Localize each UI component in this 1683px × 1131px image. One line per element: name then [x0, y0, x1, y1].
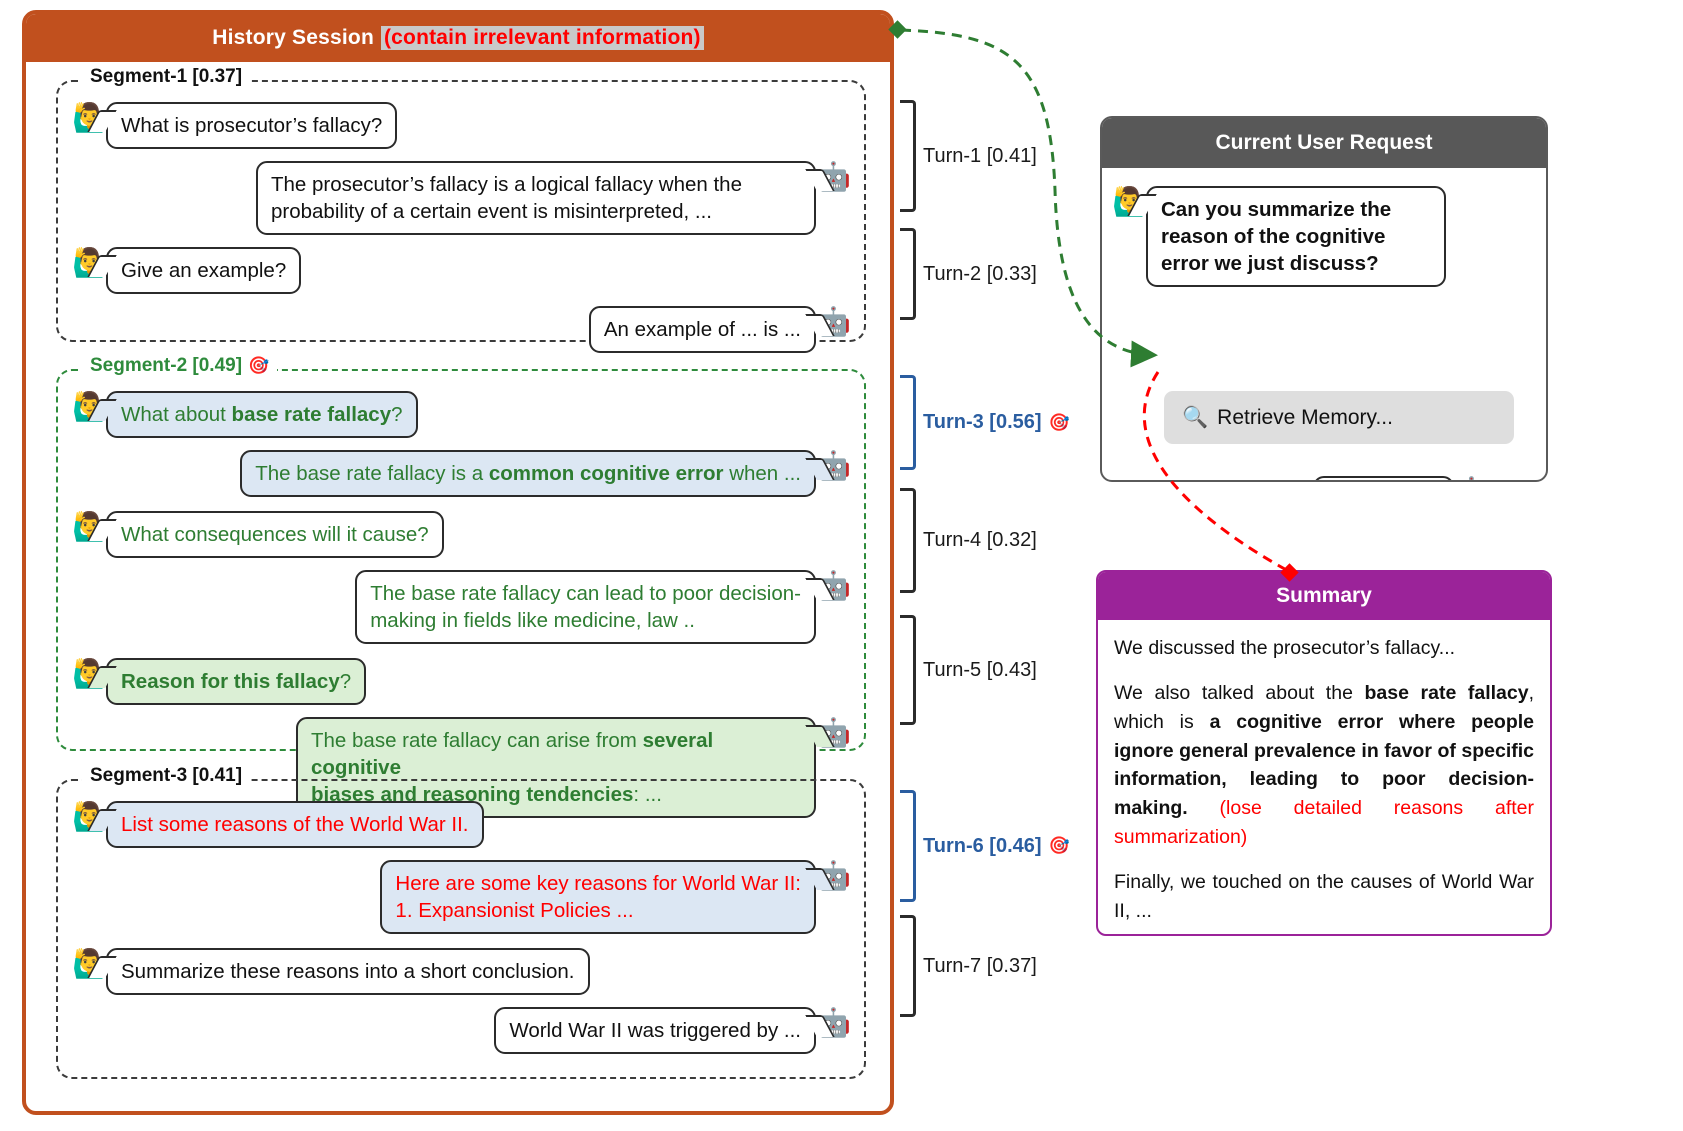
message-row-bot: The base rate fallacy can lead to poor d… — [58, 570, 864, 644]
segment-3-label: Segment-3 [0.41] — [82, 765, 250, 787]
diagram-root: History Session (contain irrelevant info… — [0, 0, 1683, 1131]
segment-1: Segment-1 [0.37] 🙋‍♂️ What is prosecutor… — [56, 80, 866, 342]
bot-avatar-icon: 🤖 — [1454, 478, 1488, 482]
target-icon: 🎯 — [1049, 413, 1070, 433]
message-row-bot: An example of ... is ... 🤖 — [58, 306, 864, 353]
summary-paragraph-3: Finally, we touched on the causes of Wor… — [1114, 868, 1534, 926]
turn-item: Turn-6 [0.46] 🎯 — [900, 790, 1070, 902]
summary-header: Summary — [1098, 572, 1550, 620]
turn-item: Turn-5 [0.43] — [900, 615, 1044, 725]
history-session-panel: History Session (contain irrelevant info… — [22, 10, 894, 1115]
segment-2-label: Segment-2 [0.49] 🎯 — [82, 355, 277, 377]
turn-label: Turn-7 [0.37] — [923, 955, 1044, 978]
target-icon: 🎯 — [1049, 836, 1070, 856]
message-row-user: 🙋‍♂️ What about base rate fallacy? — [58, 391, 864, 438]
chat-bubble-user: Reason for this fallacy? — [106, 658, 366, 705]
chat-bubble-bot-empty — [1313, 476, 1454, 482]
chat-bubble-user: Give an example? — [106, 247, 301, 294]
chat-bubble-user: Summarize these reasons into a short con… — [106, 948, 590, 995]
current-user-request-panel: Current User Request 🙋‍♂️ Can you summar… — [1100, 116, 1548, 482]
summary-p2-lead: We also talked about the — [1114, 682, 1365, 704]
message-row-bot: World War II was triggered by ... 🤖 — [58, 1007, 864, 1054]
turn-label: Turn-5 [0.43] — [923, 659, 1044, 682]
message-row-bot: Here are some key reasons for World War … — [58, 860, 864, 934]
message-row-bot: 🤖 — [1313, 476, 1488, 482]
turn-bracket — [900, 615, 916, 725]
chat-bubble-bot: An example of ... is ... — [589, 306, 816, 353]
chat-bubble-current-request: Can you summarize the reason of the cogn… — [1146, 186, 1446, 287]
message-row-user: 🙋‍♂️ Give an example? — [58, 247, 864, 294]
turn-label: Turn-1 [0.41] — [923, 145, 1044, 168]
turn-bracket — [900, 100, 916, 212]
turn-bracket — [900, 488, 916, 593]
turn-item: Turn-4 [0.32] — [900, 488, 1044, 593]
message-row-bot: The prosecutor’s fallacy is a logical fa… — [58, 161, 864, 235]
turn-item: Turn-1 [0.41] — [900, 100, 1044, 212]
current-user-request-body: 🙋‍♂️ Can you summarize the reason of the… — [1102, 186, 1546, 482]
chat-bubble-user: What is prosecutor’s fallacy? — [106, 102, 397, 149]
summary-body: We discussed the prosecutor’s fallacy...… — [1098, 620, 1550, 926]
turn-label: Turn-2 [0.33] — [923, 263, 1044, 286]
search-icon: 🔍 — [1182, 406, 1208, 430]
turn-item: Turn-7 [0.37] — [900, 915, 1044, 1017]
retrieve-memory-button[interactable]: 🔍 Retrieve Memory... — [1164, 391, 1514, 444]
chat-bubble-bot: World War II was triggered by ... — [494, 1007, 816, 1054]
chat-bubble-user: What about base rate fallacy? — [106, 391, 418, 438]
chat-bubble-user: List some reasons of the World War II. — [106, 801, 484, 848]
chat-bubble-bot: The prosecutor’s fallacy is a logical fa… — [256, 161, 816, 235]
turn-bracket — [900, 228, 916, 320]
turn-bracket-column: Turn-1 [0.41] Turn-2 [0.33] Turn-3 [0.56… — [900, 0, 1100, 1131]
chat-bubble-bot: Here are some key reasons for World War … — [380, 860, 816, 934]
chat-bubble-bot: The base rate fallacy is a common cognit… — [240, 450, 816, 497]
summary-p2-term: base rate fallacy — [1365, 682, 1529, 704]
message-row-user: 🙋‍♂️ Can you summarize the reason of the… — [1102, 186, 1546, 287]
segment-2: Segment-2 [0.49] 🎯 🙋‍♂️ What about base … — [56, 369, 866, 751]
summary-title: Summary — [1276, 584, 1372, 608]
segment-1-label: Segment-1 [0.37] — [82, 66, 250, 88]
message-row-user: 🙋‍♂️ Summarize these reasons into a shor… — [58, 948, 864, 995]
summary-paragraph-2: We also talked about the base rate falla… — [1114, 679, 1534, 852]
message-row-bot: The base rate fallacy is a common cognit… — [58, 450, 864, 497]
message-row-user: 🙋‍♂️ What is prosecutor’s fallacy? — [58, 102, 864, 149]
retrieve-memory-label: Retrieve Memory... — [1217, 406, 1393, 430]
turn-label: Turn-4 [0.32] — [923, 529, 1044, 552]
history-session-note: (contain irrelevant information) — [381, 26, 704, 50]
summary-panel: Summary We discussed the prosecutor’s fa… — [1096, 570, 1552, 936]
turn-label: Turn-6 [0.46] 🎯 — [923, 835, 1070, 858]
current-user-request-title: Current User Request — [1215, 131, 1432, 155]
segment-3: Segment-3 [0.41] 🙋‍♂️ List some reasons … — [56, 779, 866, 1079]
summary-paragraph-1: We discussed the prosecutor’s fallacy... — [1114, 634, 1534, 663]
turn-label: Turn-3 [0.56] 🎯 — [923, 411, 1070, 434]
current-user-request-header: Current User Request — [1102, 118, 1546, 168]
message-row-user: 🙋‍♂️ List some reasons of the World War … — [58, 801, 864, 848]
message-row-user: 🙋‍♂️ Reason for this fallacy? — [58, 658, 864, 705]
turn-item: Turn-2 [0.33] — [900, 228, 1044, 320]
turn-item: Turn-3 [0.56] 🎯 — [900, 375, 1070, 470]
chat-bubble-user: What consequences will it cause? — [106, 511, 444, 558]
message-row-user: 🙋‍♂️ What consequences will it cause? — [58, 511, 864, 558]
history-session-header: History Session (contain irrelevant info… — [26, 14, 890, 62]
turn-bracket — [900, 375, 916, 470]
target-icon: 🎯 — [248, 356, 269, 376]
turn-bracket — [900, 915, 916, 1017]
history-session-title: History Session — [212, 26, 374, 50]
turn-bracket — [900, 790, 916, 902]
chat-bubble-bot: The base rate fallacy can lead to poor d… — [355, 570, 816, 644]
